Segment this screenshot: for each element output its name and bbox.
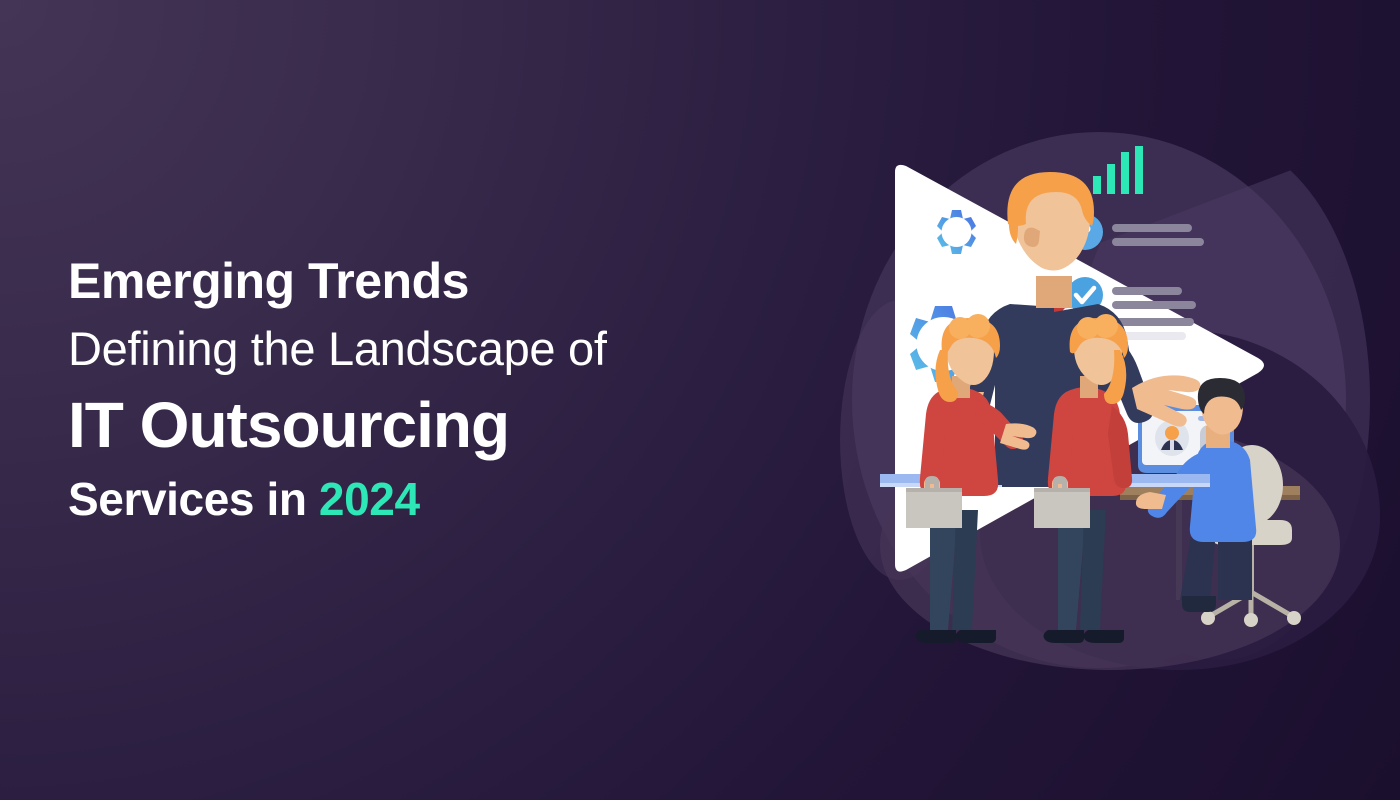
- presenter-ear: [1024, 228, 1040, 247]
- page-title: Emerging Trends Defining the Landscape o…: [68, 248, 788, 532]
- headline-line-2: Defining the Landscape of: [68, 314, 788, 384]
- shoe-right: [1084, 630, 1125, 643]
- shoe-left: [916, 630, 957, 643]
- headline-year: 2024: [319, 473, 420, 525]
- it-outsourcing-illustration: ?: [820, 100, 1380, 700]
- headline-line-3: IT Outsourcing: [68, 384, 788, 466]
- headline-line-4-prefix: Services in: [68, 473, 319, 525]
- shoe-right: [956, 630, 997, 643]
- headline-line-4: Services in 2024: [68, 466, 788, 532]
- shoe-left: [1044, 630, 1085, 643]
- banner-root: Emerging Trends Defining the Landscape o…: [0, 0, 1400, 800]
- mini-bar-chart-icon: [1093, 146, 1143, 194]
- headline-line-1: Emerging Trends: [68, 248, 788, 314]
